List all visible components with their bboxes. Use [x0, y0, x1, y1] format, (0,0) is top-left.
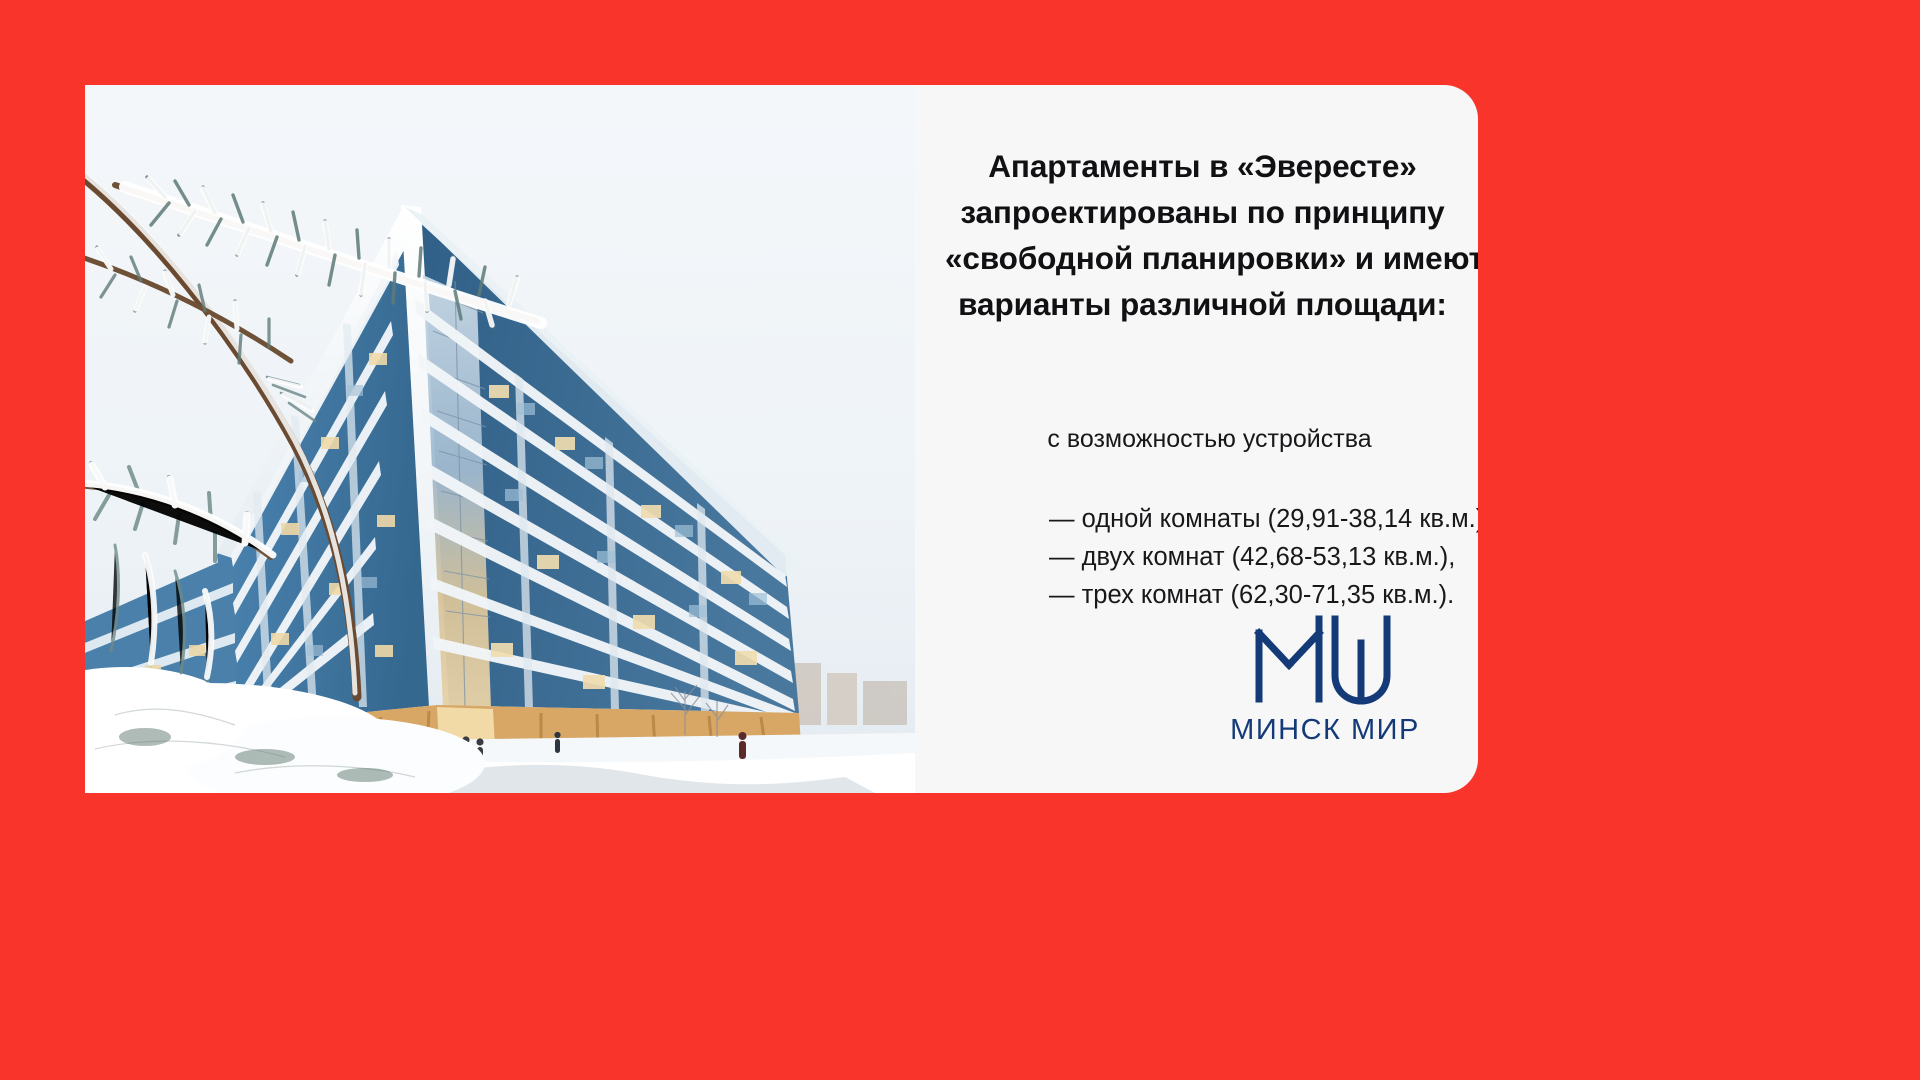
building-photo-illustration	[85, 85, 915, 793]
text-column: Апартаменты в «Эвересте» запроектированы…	[915, 85, 1478, 793]
headline-line-4: варианты различной площади:	[945, 281, 1460, 327]
page-title: Апартаменты в «Эвересте» запроектированы…	[915, 143, 1460, 327]
apartment-options-list: — одной комнаты (29,91-38,14 кв.м.), — д…	[915, 500, 1478, 614]
list-item: — двух комнат (42,68-53,13 кв.м.),	[1049, 538, 1478, 576]
brand-logo-text: МИНСК МИР	[1205, 714, 1445, 747]
headline-line-2: запроектированы по принципу	[945, 189, 1460, 235]
mw-monogram-icon	[1249, 613, 1401, 705]
content-card: Апартаменты в «Эвересте» запроектированы…	[85, 85, 1478, 793]
list-item: — одной комнаты (29,91-38,14 кв.м.),	[1049, 500, 1478, 538]
slide-canvas: Апартаменты в «Эвересте» запроектированы…	[0, 0, 1920, 1080]
brand-logo: МИНСК МИР	[1205, 613, 1445, 747]
list-item: — трех комнат (62,30-71,35 кв.м.).	[1049, 576, 1478, 614]
building-photo	[85, 85, 915, 793]
headline-line-3: «свободной планировки» и имеют	[945, 235, 1460, 281]
subheading: с возможностью устройства	[915, 422, 1470, 456]
headline-line-1: Апартаменты в «Эвересте»	[945, 143, 1460, 189]
